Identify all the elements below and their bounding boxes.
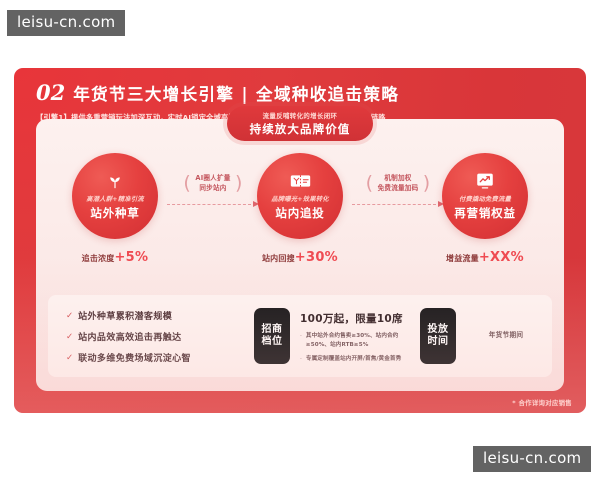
- banner-subtitle: 流量反哺转化的增长闭环: [263, 111, 338, 120]
- banner-title: 持续放大品牌价值: [250, 121, 351, 137]
- benefit-list: ✓ 站外种草累积潜客规模 ✓ 站内品效高效追击再触达 ✓ 联动多维免费场域沉淀心…: [66, 305, 191, 368]
- connector-1: ( AI圈人扩量 同步站内 ): [167, 173, 259, 208]
- flow-node-2: 品牌曝光+效果转化 站内追投 站内回搜+30%: [257, 153, 343, 265]
- list-item: ✓ 联动多维免费场域沉淀心智: [66, 347, 191, 368]
- badge-slot-line2: 档位: [262, 336, 283, 349]
- price-detail-text-2: 专属定制覆盖站内开屏/首焦/黄金首秀: [306, 355, 401, 364]
- page-title: 年货节三大增长引擎 | 全域种收追击策略: [73, 87, 399, 104]
- bullet-icon: ·: [300, 332, 302, 349]
- chart-icon: [475, 171, 495, 190]
- arrow-line-2: [352, 204, 436, 205]
- flow-circle-2: 品牌曝光+效果转化 站内追投: [257, 153, 343, 239]
- arrow-line-1: [167, 204, 251, 205]
- connector-2-line2: 免费流量加码: [378, 184, 419, 192]
- connector-2-line1: 机制加权: [384, 174, 411, 182]
- metric-value-3: +XX%: [479, 250, 524, 265]
- closed-loop-banner: 流量反哺转化的增长闭环 持续放大品牌价值: [227, 106, 373, 141]
- check-icon: ✓: [66, 353, 73, 363]
- screenshot-root: leisu-cn.com 02 年货节三大增长引擎 | 全域种收追击策略 【引擎…: [0, 0, 600, 480]
- circle-title-2: 站内追投: [275, 205, 324, 221]
- flow-circle-1: 高潜人群+精准引流 站外种草: [72, 153, 158, 239]
- flow-circle-3: 付费撬动免费流量 再营销权益: [442, 153, 528, 239]
- metric-label-1: 追击浓度: [82, 254, 115, 263]
- metric-1: 追击浓度+5%: [72, 250, 158, 265]
- metric-label-2: 站内回搜: [262, 254, 295, 263]
- flow-node-3: 付费撬动免费流量 再营销权益 增益流量+XX%: [442, 153, 528, 265]
- circle-subtitle-3: 付费撬动免费流量: [459, 194, 511, 203]
- metric-2: 站内回搜+30%: [257, 250, 343, 265]
- benefit-text-3: 联动多维免费场域沉淀心智: [78, 351, 191, 364]
- price-headline: 100万起，限量10席: [300, 311, 420, 326]
- content-card: 流量反哺转化的增长闭环 持续放大品牌价值: [36, 119, 564, 391]
- header-title-row: 02 年货节三大增长引擎 | 全域种收追击策略: [36, 82, 566, 104]
- flow-node-1: 高潜人群+精准引流 站外种草 追击浓度+5%: [72, 153, 158, 265]
- connector-2-text: ( 机制加权 免费流量加码 ): [366, 173, 431, 193]
- marketing-slide: 02 年货节三大增长引擎 | 全域种收追击策略 【引擎1】提供多重营销玩法加深互…: [14, 68, 586, 413]
- list-item: ✓ 站内品效高效追击再触达: [66, 326, 191, 347]
- coupon-icon: [290, 171, 311, 190]
- summary-strip: ✓ 站外种草累积潜客规模 ✓ 站内品效高效追击再触达 ✓ 联动多维免费场域沉淀心…: [48, 295, 552, 377]
- arrow-right-icon-1: [167, 201, 259, 208]
- price-detail-1: · 其中站外合约售卖≥30%、站内合约≥50%、站内RTB≥5%: [300, 332, 420, 349]
- list-item: ✓ 站外种草累积潜客规模: [66, 305, 191, 326]
- price-detail-text-1: 其中站外合约售卖≥30%、站内合约≥50%、站内RTB≥5%: [306, 332, 420, 349]
- badge-investment-tier: 招商 档位: [254, 308, 290, 364]
- arrow-right-icon-2: [352, 201, 444, 208]
- check-icon: ✓: [66, 311, 73, 321]
- bullet-icon: ·: [300, 355, 302, 364]
- flow-diagram: 高潜人群+精准引流 站外种草 追击浓度+5% ( AI圈人扩量 同步站内 ): [36, 153, 564, 283]
- watermark-bottom: leisu-cn.com: [473, 446, 591, 472]
- section-number: 02: [36, 82, 65, 103]
- pricing-block: 100万起，限量10席 · 其中站外合约售卖≥30%、站内合约≥50%、站内RT…: [300, 311, 420, 364]
- connector-1-line2: 同步站内: [199, 184, 226, 192]
- sprout-icon: [105, 171, 125, 190]
- metric-value-1: +5%: [114, 250, 148, 265]
- circle-subtitle-2: 品牌曝光+效果转化: [271, 194, 328, 203]
- metric-label-3: 增益流量: [446, 254, 479, 263]
- badge-delivery-time: 投放 时间: [420, 308, 456, 364]
- delivery-period-text: 年货节期间: [466, 329, 546, 339]
- badge-slot-line1: 招商: [262, 324, 283, 337]
- circle-title-3: 再营销权益: [454, 205, 516, 221]
- metric-3: 增益流量+XX%: [442, 250, 528, 265]
- badge-time-line1: 投放: [428, 324, 449, 337]
- watermark-top: leisu-cn.com: [7, 10, 125, 36]
- price-detail-2: · 专属定制覆盖站内开屏/首焦/黄金首秀: [300, 355, 420, 364]
- connector-1-line1: AI圈人扩量: [195, 174, 230, 182]
- connector-2: ( 机制加权 免费流量加码 ): [352, 173, 444, 208]
- connector-1-text: ( AI圈人扩量 同步站内 ): [183, 173, 242, 193]
- circle-subtitle-1: 高潜人群+精准引流: [86, 194, 143, 203]
- footnote: * 合作详询对应销售: [512, 398, 572, 407]
- benefit-text-2: 站内品效高效追击再触达: [78, 330, 181, 343]
- metric-value-2: +30%: [295, 250, 338, 265]
- benefit-text-1: 站外种草累积潜客规模: [78, 309, 172, 322]
- check-icon: ✓: [66, 332, 73, 342]
- circle-title-1: 站外种草: [90, 205, 139, 221]
- badge-time-line2: 时间: [428, 336, 449, 349]
